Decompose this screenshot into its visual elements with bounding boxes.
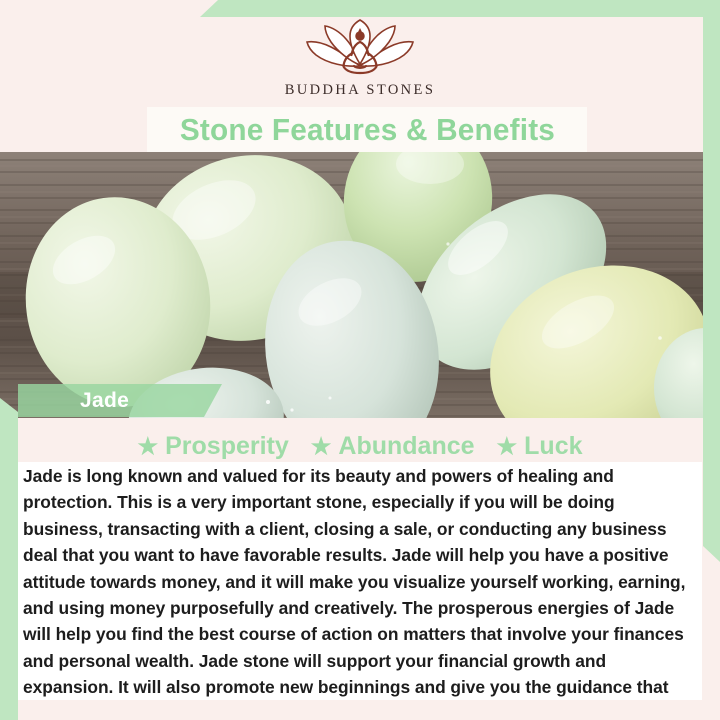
jade-stones-illustration xyxy=(0,152,720,418)
brand-logo: BUDDHA STONES xyxy=(0,18,720,108)
star-icon: ★ xyxy=(311,435,332,458)
frame-accent-bottom-left xyxy=(0,700,18,720)
stone-name-badge: Jade xyxy=(18,384,222,417)
description-text: Jade is long known and valued for its be… xyxy=(18,462,702,700)
brand-name: BUDDHA STONES xyxy=(285,82,436,99)
benefit-label: Luck xyxy=(524,432,582,461)
page-title-band: Stone Features & Benefits xyxy=(147,107,587,152)
page-title: Stone Features & Benefits xyxy=(179,112,554,148)
star-icon: ★ xyxy=(137,435,158,458)
benefit-item-prosperity: ★ Prosperity xyxy=(137,432,288,461)
stone-name-label: Jade xyxy=(80,389,129,413)
benefit-item-luck: ★ Luck xyxy=(497,432,583,461)
benefit-label: Abundance xyxy=(338,432,474,461)
frame-accent-top xyxy=(200,0,720,17)
benefits-row: ★ Prosperity ★ Abundance ★ Luck xyxy=(0,430,720,462)
frame-accent-left xyxy=(0,398,18,708)
benefit-label: Prosperity xyxy=(165,432,289,461)
lotus-meditation-icon xyxy=(294,18,426,80)
benefit-item-abundance: ★ Abundance xyxy=(311,432,475,461)
infographic-card: BUDDHA STONES Stone Features & Benefits xyxy=(0,0,720,720)
description-panel: Jade is long known and valued for its be… xyxy=(18,462,702,700)
star-icon: ★ xyxy=(497,435,518,458)
stone-photo xyxy=(0,152,720,418)
